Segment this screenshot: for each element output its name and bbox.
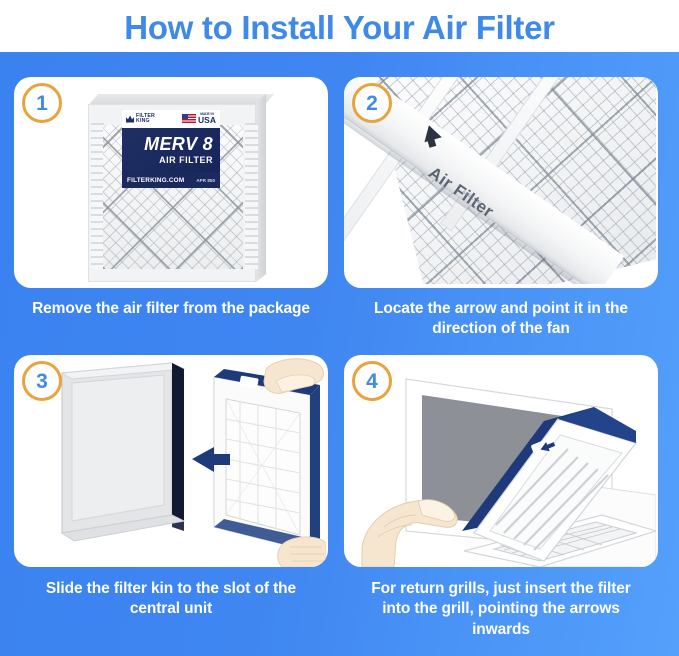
step-4-number: 4 bbox=[366, 371, 378, 392]
page-title: How to Install Your Air Filter bbox=[124, 11, 554, 44]
brand-name: FILTER KING bbox=[136, 114, 155, 125]
product-label: FILTER KING MADE IN USA bbox=[122, 110, 220, 188]
title-band: How to Install Your Air Filter bbox=[0, 0, 679, 52]
product-label-footer: FILTERKING.COM APR 850 bbox=[122, 172, 220, 188]
made-in-block: MADE IN USA bbox=[198, 113, 216, 125]
step-4: 4 For return grills, just insert the fil… bbox=[344, 355, 658, 645]
merv-rating: MERV 8 bbox=[144, 135, 213, 153]
brand-line-2: KING bbox=[136, 119, 155, 124]
usa-flag-icon bbox=[182, 114, 196, 123]
country-text: USA bbox=[198, 116, 216, 125]
step-2-number: 2 bbox=[366, 93, 378, 114]
steps-grid: FILTER KING MADE IN USA bbox=[0, 52, 679, 656]
step-2-caption: Locate the arrow and point it in the dir… bbox=[366, 299, 636, 340]
brand-logo: FILTER KING bbox=[126, 114, 155, 125]
step-3-number: 3 bbox=[36, 371, 48, 392]
step-4-caption: For return grills, just insert the filte… bbox=[362, 579, 640, 640]
product-label-header: FILTER KING MADE IN USA bbox=[122, 110, 220, 128]
step-2-badge: 2 bbox=[352, 83, 392, 123]
product-label-main: MERV 8 AIR FILTER bbox=[122, 128, 220, 172]
step-3: 3 Slide the filter kin to the slot of th… bbox=[14, 355, 328, 645]
step-1-image: FILTER KING MADE IN USA bbox=[86, 94, 264, 287]
product-type: AIR FILTER bbox=[159, 156, 213, 165]
step-1-badge: 1 bbox=[22, 83, 62, 123]
step-1: FILTER KING MADE IN USA bbox=[14, 77, 328, 347]
infographic-page: How to Install Your Air Filter bbox=[0, 0, 679, 656]
step-3-badge: 3 bbox=[22, 361, 62, 401]
crown-icon bbox=[126, 116, 134, 123]
unit-face-inner bbox=[72, 375, 164, 521]
filter-panel-side-frame bbox=[310, 385, 320, 551]
step-1-number: 1 bbox=[36, 93, 48, 114]
step-1-caption: Remove the air filter from the package bbox=[14, 299, 328, 319]
unit-slot-dark bbox=[172, 363, 184, 521]
made-in-usa: MADE IN USA bbox=[182, 113, 216, 125]
steps-background: FILTER KING MADE IN USA bbox=[0, 52, 679, 656]
filter-pleat-right bbox=[245, 123, 258, 269]
step-3-caption: Slide the filter kin to the slot of the … bbox=[36, 579, 306, 620]
step-4-badge: 4 bbox=[352, 361, 392, 401]
step-2: Air Filter AIRFLOW 2 Locate the arrow an… bbox=[344, 77, 658, 347]
website-text: FILTERKING.COM bbox=[127, 177, 184, 184]
apr-rating: APR 850 bbox=[196, 178, 215, 183]
